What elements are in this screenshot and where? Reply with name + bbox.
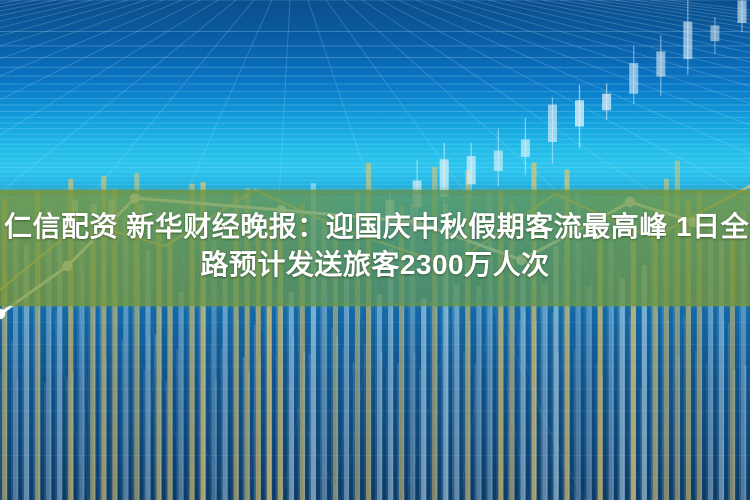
headline-line-1: 仁信配资 新华财经晚报：迎国庆中秋假期客流最高峰 1日全国铁 (4, 208, 746, 246)
headline-line-2: 路预计发送旅客2300万人次 (4, 246, 746, 284)
stock-market-banner-image: 仁信配资 新华财经晚报：迎国庆中秋假期客流最高峰 1日全国铁 路预计发送旅客23… (0, 0, 750, 500)
band-bottom-fade (0, 303, 750, 309)
headline-caption: 仁信配资 新华财经晚报：迎国庆中秋假期客流最高峰 1日全国铁 路预计发送旅客23… (0, 208, 750, 284)
